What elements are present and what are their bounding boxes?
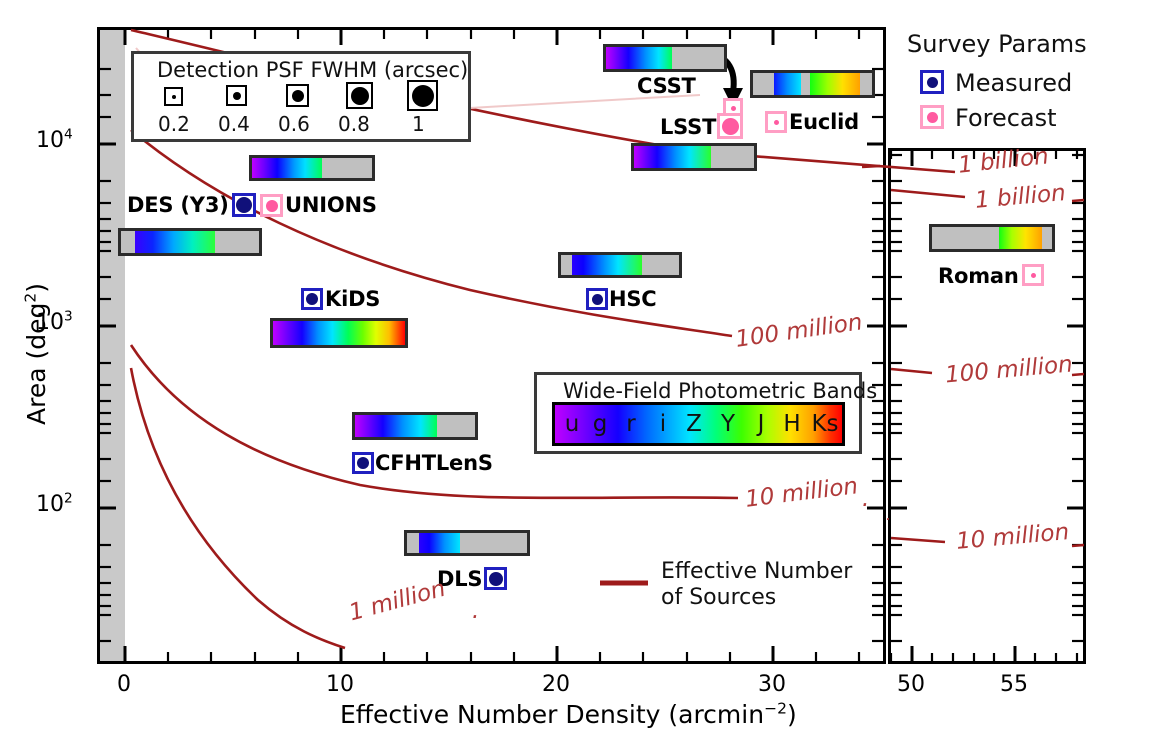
survey-marker-unions[interactable] — [260, 194, 283, 217]
curve-annotation-dot-1-million: . — [472, 598, 479, 624]
survey-bar-dls — [404, 530, 530, 556]
band-label-g: g — [589, 411, 611, 437]
psf-swatch-0.6 — [286, 84, 309, 107]
survey-marker-hsc[interactable] — [586, 288, 608, 310]
psf-swatch-0.2 — [164, 87, 183, 106]
band-label-r: r — [620, 411, 642, 437]
band-coverage-fill — [355, 415, 437, 437]
psf-value-1: 1 — [412, 112, 425, 136]
psf-value-0.4: 0.4 — [218, 112, 250, 136]
figure-canvas: 0 10 20 30 50 55 104 103 102 Effective N… — [0, 0, 1158, 740]
measured-dot — [236, 197, 252, 213]
survey-bar-hsc — [558, 252, 682, 278]
survey-bar-cfhtlens — [352, 412, 478, 440]
psf-swatch-0.8 — [346, 82, 373, 109]
survey-marker-roman[interactable] — [1022, 264, 1044, 286]
survey-marker-cfhtlens[interactable] — [352, 452, 374, 474]
survey-label-des: DES (Y3) — [127, 193, 229, 217]
band-label-Y: Y — [717, 411, 739, 437]
xtick-30: 30 — [758, 672, 786, 697]
band-coverage-fill — [135, 231, 215, 253]
legend-marker-measured[interactable] — [920, 70, 944, 94]
band-coverage-fill — [572, 255, 643, 275]
legend-marker-forecast[interactable] — [920, 105, 944, 129]
forecast-dot — [722, 118, 739, 135]
band-label-Z: Z — [683, 411, 705, 437]
xtick-55: 55 — [1000, 672, 1028, 697]
y-axis-title: Area (deg2) — [22, 283, 51, 425]
right-panel-stray-dot: . — [886, 505, 891, 524]
survey-label-kids: KiDS — [325, 287, 380, 311]
measured-dot — [592, 294, 603, 305]
curve-annotation-dot-10-million: . — [862, 486, 869, 512]
main-y-major-ticks-right — [867, 144, 883, 508]
band-coverage-fill-second — [810, 73, 860, 95]
xtick-50: 50 — [897, 672, 925, 697]
band-coverage-fill — [273, 321, 405, 345]
y-axis-title-text: Area (deg — [22, 303, 51, 425]
band-label-Ks: Ks — [810, 411, 840, 437]
survey-marker-euclid[interactable] — [765, 111, 787, 133]
forecast-dot — [266, 200, 278, 212]
band-label-H: H — [781, 411, 803, 437]
band-coverage-fill — [419, 533, 460, 553]
psf-dot — [412, 85, 434, 107]
forecast-dot — [774, 120, 779, 125]
forecast-dot — [731, 106, 736, 111]
x-axis-title-exponent: −2 — [764, 700, 787, 718]
bands-legend-title: Wide-Field Photometric Bands — [563, 379, 877, 403]
y-axis-title-exponent: 2 — [22, 293, 40, 303]
ytick-1e4: 104 — [36, 128, 73, 153]
survey-label-roman: Roman — [938, 264, 1019, 288]
band-label-u: u — [561, 411, 583, 437]
survey-label-hsc: HSC — [609, 287, 657, 311]
psf-legend-title: Detection PSF FWHM (arcsec) — [157, 58, 468, 82]
survey-label-euclid: Euclid — [789, 110, 859, 134]
survey-label-lsst: LSST — [660, 115, 716, 139]
survey-marker-dls[interactable] — [484, 567, 507, 590]
measured-dot — [357, 457, 369, 469]
psf-dot — [351, 87, 369, 105]
x-axis-title-tail: ) — [787, 700, 797, 729]
survey-params-title: Survey Params — [907, 30, 1087, 58]
survey-marker-lsst[interactable] — [717, 113, 743, 139]
ytick-1e2: 102 — [36, 492, 73, 517]
survey-bar-lsst — [631, 143, 757, 171]
survey-marker-kids[interactable] — [301, 288, 323, 310]
xtick-10: 10 — [326, 672, 354, 697]
legend-label-measured: Measured — [955, 69, 1072, 97]
curve-right-1-billion — [891, 190, 965, 197]
survey-bar-roman — [929, 224, 1055, 252]
x-axis-title: Effective Number Density (arcmin−2) — [340, 700, 797, 729]
measured-dot — [306, 293, 318, 305]
curve-legend-line1: Effective Number — [661, 559, 852, 585]
curve-leaders-main — [862, 166, 880, 167]
main-y-minor-ticks — [100, 69, 111, 641]
xtick-0: 0 — [117, 672, 131, 697]
legend-label-forecast: Forecast — [955, 104, 1057, 132]
survey-label-cfhtlens: CFHTLenS — [375, 451, 493, 475]
psf-dot — [233, 92, 241, 100]
main-y-minor-ticks-right — [872, 69, 883, 641]
psf-value-0.8: 0.8 — [338, 112, 370, 136]
forecast-dot — [927, 112, 938, 123]
psf-swatch-0.4 — [226, 85, 247, 106]
curve-legend-line2: of Sources — [661, 585, 776, 611]
survey-label-unions: UNIONS — [285, 193, 377, 217]
survey-bar-euclid — [750, 70, 875, 98]
psf-dot — [172, 95, 176, 99]
psf-value-0.2: 0.2 — [158, 112, 190, 136]
main-y-major-ticks — [100, 144, 116, 508]
band-coverage-fill — [606, 47, 672, 69]
curve-right-10-million — [891, 538, 945, 542]
curve-right-100-million — [891, 369, 932, 373]
psf-dot — [292, 90, 304, 102]
y-axis-title-tail: ) — [22, 283, 51, 293]
survey-bar-kids — [270, 318, 408, 348]
survey-marker-des[interactable] — [232, 193, 256, 217]
measured-dot — [489, 572, 503, 586]
psf-value-0.6: 0.6 — [278, 112, 310, 136]
x-axis-title-text: Effective Number Density (arcmin — [340, 700, 764, 729]
band-label-J: J — [750, 411, 772, 437]
band-label-i: i — [652, 411, 674, 437]
survey-bar-unions — [249, 155, 375, 181]
band-coverage-fill — [634, 146, 711, 168]
xtick-20: 20 — [542, 672, 570, 697]
survey-bar-csst — [603, 44, 727, 72]
measured-dot — [927, 77, 938, 88]
survey-label-csst: CSST — [637, 74, 696, 98]
forecast-dot — [1031, 273, 1036, 278]
band-coverage-fill — [252, 158, 322, 178]
survey-bar-des — [118, 228, 262, 256]
band-coverage-fill — [774, 73, 800, 95]
band-coverage-fill — [999, 227, 1042, 249]
curve-1-million — [131, 368, 345, 648]
psf-swatch-1 — [407, 80, 438, 111]
